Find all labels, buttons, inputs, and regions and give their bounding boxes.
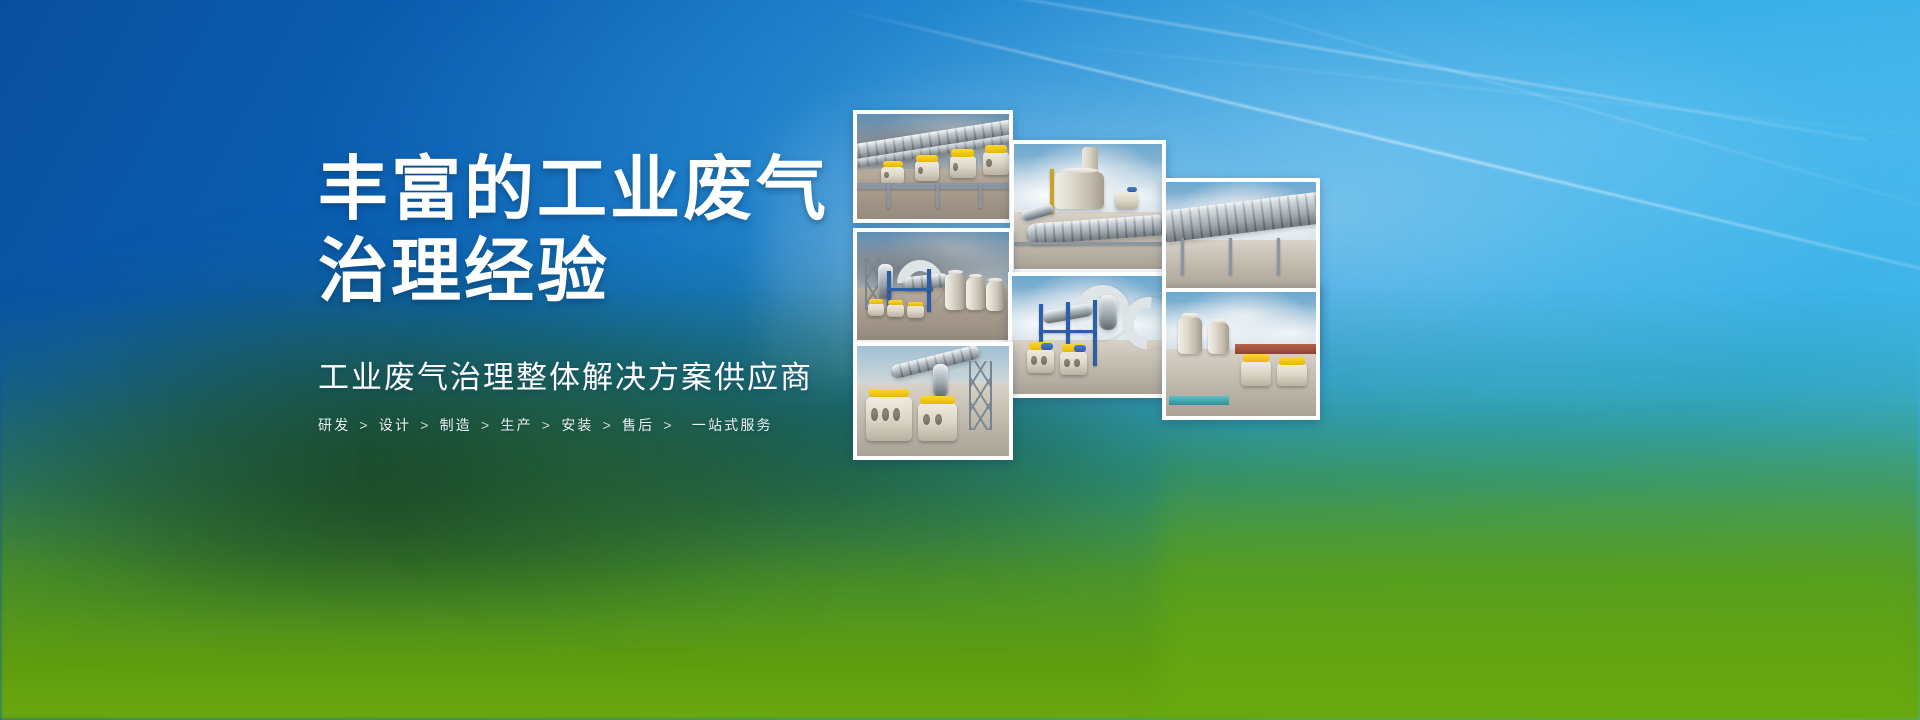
process-step-6: 售后 [622,415,654,435]
chevron-right-icon: > [481,417,491,433]
banner-copy: 丰富的工业废气 治理经验 工业废气治理整体解决方案供应商 研发 > 设计 > 制… [318,148,878,435]
chevron-right-icon: > [420,417,430,433]
photo-image [857,114,1009,219]
hero-banner: 丰富的工业废气 治理经验 工业废气治理整体解决方案供应商 研发 > 设计 > 制… [0,0,1920,720]
photo-collage [840,0,1920,720]
process-step-5: 安装 [561,415,593,435]
photo-image [1012,276,1162,394]
chevron-right-icon: > [603,417,613,433]
photo-image [1166,292,1316,416]
page-title: 丰富的工业废气 治理经验 [318,148,878,312]
process-step-1: 研发 [318,415,350,435]
headline-line-1: 丰富的工业废气 [318,150,829,228]
photo-image [1014,144,1162,269]
photo-image [1166,182,1316,290]
photo-vertical-scrubbers[interactable] [1162,178,1320,294]
headline-line-2: 治理经验 [318,230,878,312]
process-step-2: 设计 [379,415,411,435]
process-final-label: 一站式服务 [692,415,773,435]
photo-pipeline-rooftop-ducts[interactable] [853,110,1013,223]
process-chain: 研发 > 设计 > 制造 > 生产 > 安装 > 售后 > 一站式服务 [318,415,878,435]
chevron-right-icon: > [359,417,369,433]
photo-industrial-plant-site[interactable] [1162,288,1320,420]
photo-fan-equipment-yard[interactable] [853,342,1013,460]
chevron-right-icon: > [663,417,673,433]
photo-scrubber-tower-array[interactable] [853,228,1013,344]
photo-rto-incinerator-unit[interactable] [1010,140,1166,273]
process-step-4: 生产 [500,415,532,435]
photo-blower-fan-row[interactable] [1008,272,1166,398]
process-step-3: 制造 [440,415,472,435]
banner-subtitle: 工业废气治理整体解决方案供应商 [318,358,878,398]
photo-image [857,232,1009,340]
chevron-right-icon: > [542,417,552,433]
photo-image [857,346,1009,456]
